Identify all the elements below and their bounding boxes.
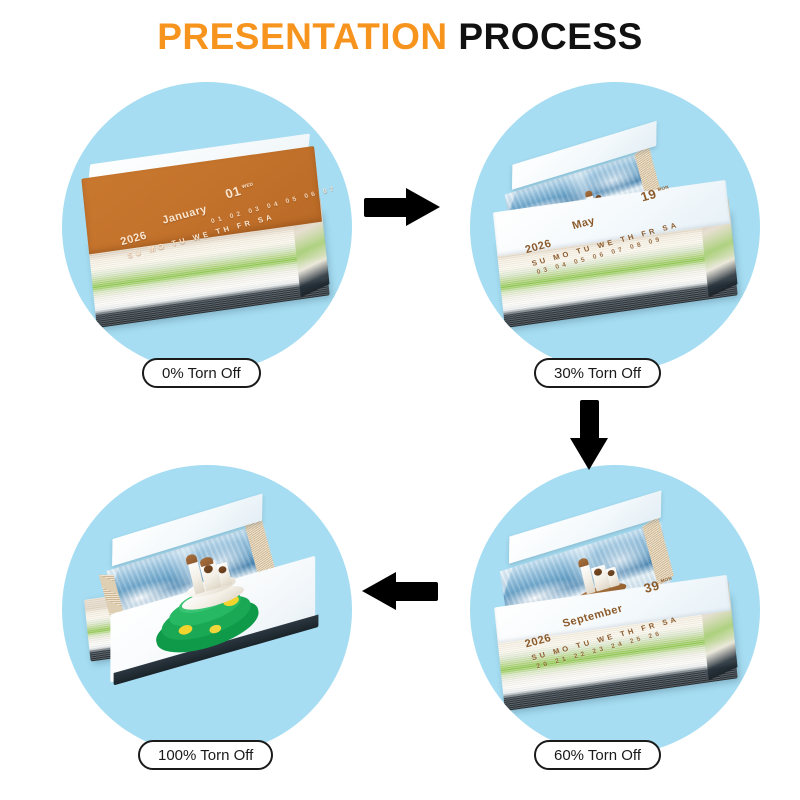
step-panel-0-percent: 2026 January 01 WED SU MO TU WE TH FR SA…: [62, 82, 352, 372]
calendar-month: May: [571, 215, 597, 232]
calendar-day-number: 39: [642, 578, 662, 596]
page-title: PRESENTATION PROCESS: [0, 16, 800, 58]
arrow-right-icon: [364, 188, 442, 226]
arrow-head: [570, 438, 608, 470]
step-label-0-percent: 0% Torn Off: [142, 358, 261, 388]
arrow-head: [362, 572, 396, 610]
arrow-shaft: [580, 400, 599, 440]
photo-circle-0-percent: 2026 January 01 WED SU MO TU WE TH FR SA…: [62, 82, 352, 372]
arrow-shaft: [394, 582, 438, 601]
arrow-left-icon: [360, 572, 438, 610]
arrow-head: [406, 188, 440, 226]
calendar-day-name: WED: [241, 181, 254, 189]
step-label-100-percent: 100% Torn Off: [138, 740, 273, 770]
calendar-day-number: 19: [639, 186, 659, 204]
arrow-down-icon: [570, 400, 608, 470]
step-panel-30-percent: 2026 May 19 MON SU MO TU WE TH FR SA 03 …: [470, 82, 760, 372]
page-title-accent: PRESENTATION: [157, 16, 447, 57]
calendar-day-name: MON: [660, 576, 673, 584]
photo-circle-100-percent: [62, 465, 352, 755]
arrow-shaft: [364, 198, 408, 217]
photo-circle-30-percent: 2026 May 19 MON SU MO TU WE TH FR SA 03 …: [470, 82, 760, 372]
step-panel-60-percent: 2026 September 39 MON SU MO TU WE TH FR …: [470, 465, 760, 755]
photo-circle-60-percent: 2026 September 39 MON SU MO TU WE TH FR …: [470, 465, 760, 755]
calendar-month: September: [561, 603, 624, 630]
calendar-day-name: MON: [657, 184, 670, 192]
calendar-month: January: [161, 203, 209, 226]
calendar-block-0-percent: 2026 January 01 WED SU MO TU WE TH FR SA…: [81, 146, 329, 328]
step-label-30-percent: 30% Torn Off: [534, 358, 661, 388]
page-title-dark: PROCESS: [458, 16, 642, 57]
calendar-block-30-percent: 2026 May 19 MON SU MO TU WE TH FR SA 03 …: [489, 146, 737, 328]
step-panel-100-percent: [62, 465, 352, 755]
calendar-day-number: 01: [223, 183, 243, 201]
calendar-block-100-percent: [79, 521, 332, 704]
calendar-block-60-percent: 2026 September 39 MON SU MO TU WE TH FR …: [489, 529, 737, 711]
step-label-60-percent: 60% Torn Off: [534, 740, 661, 770]
